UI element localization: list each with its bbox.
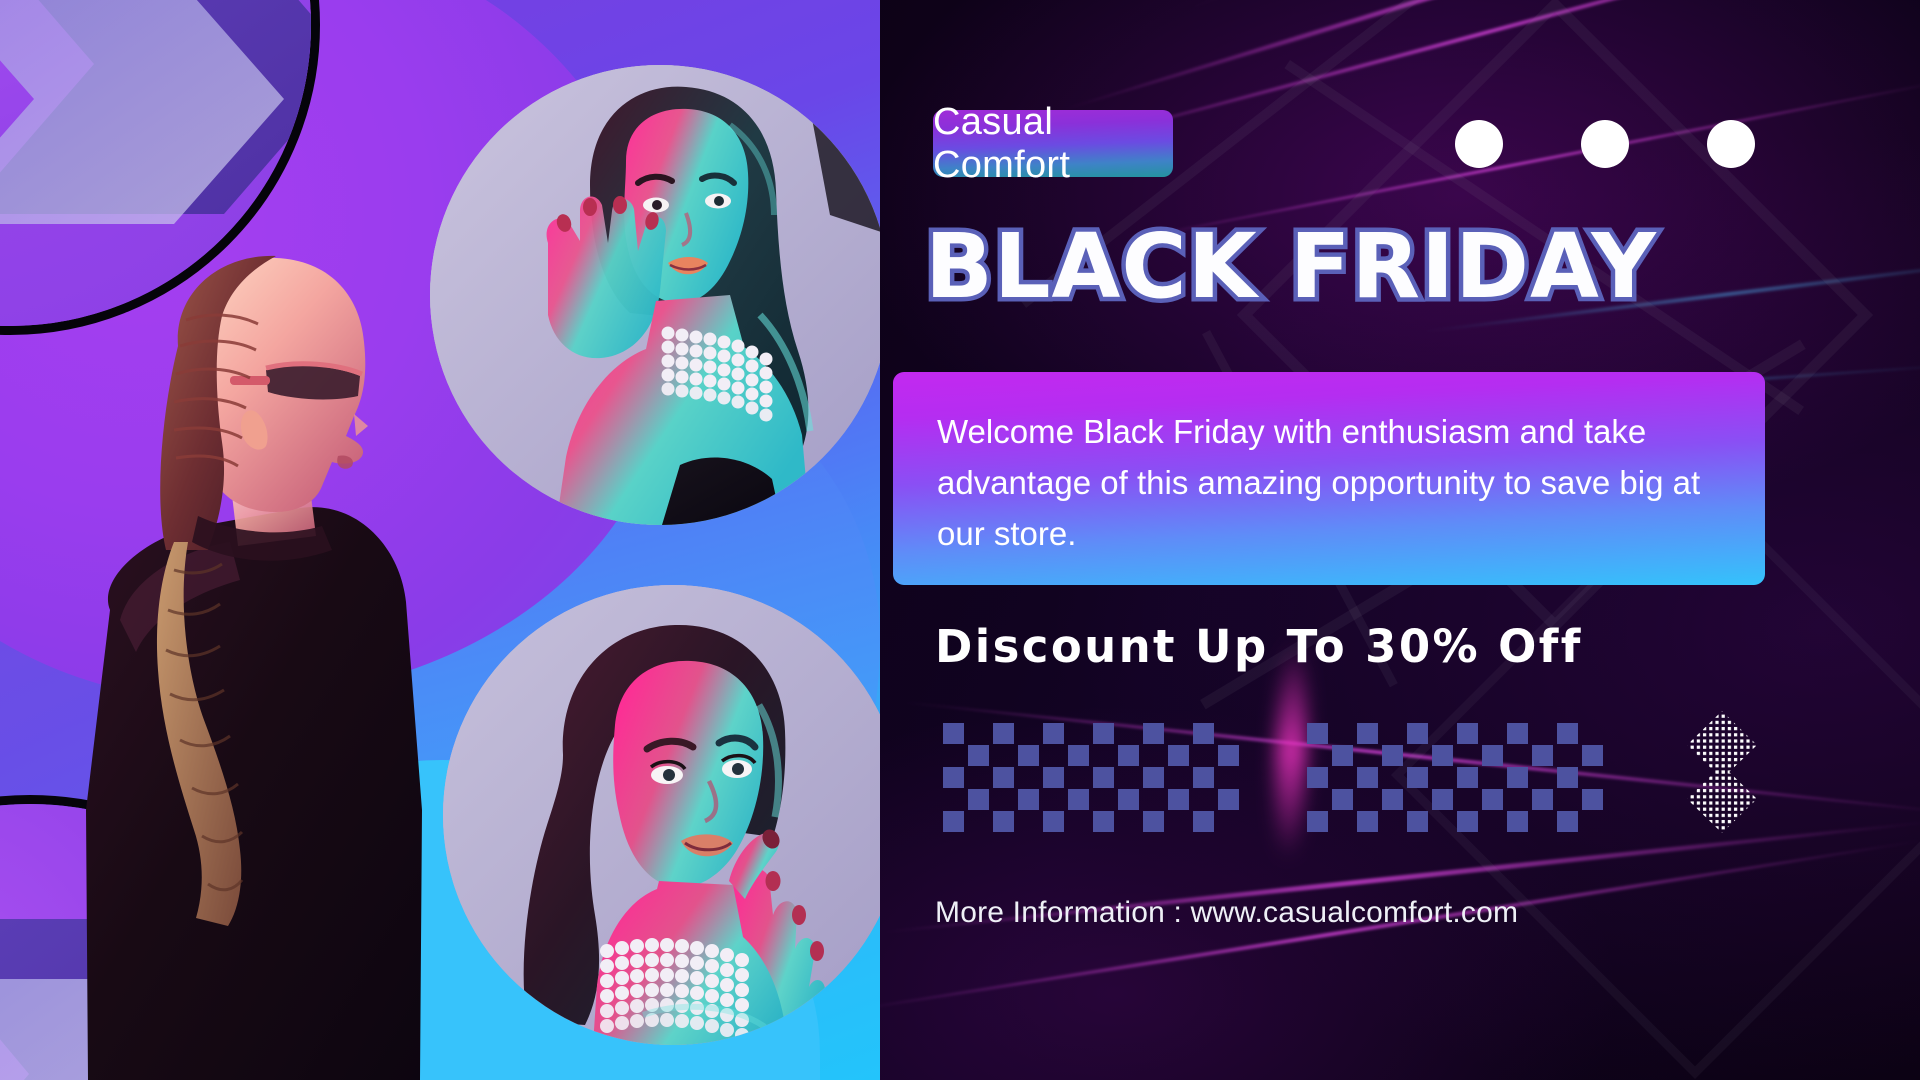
photo-circle-bottom bbox=[443, 585, 880, 1045]
left-figure-model bbox=[70, 250, 490, 1080]
brand-badge[interactable]: Casual Comfort bbox=[933, 110, 1173, 177]
diamond-dot-ornament bbox=[1683, 707, 1761, 837]
discount-headline: Discount Up To 30% Off bbox=[935, 620, 1583, 673]
checker-pattern-left bbox=[943, 723, 1243, 833]
description-text: Welcome Black Friday with enthusiasm and… bbox=[937, 406, 1727, 559]
checker-pattern-right bbox=[1307, 723, 1607, 833]
brand-badge-label: Casual Comfort bbox=[933, 101, 1173, 187]
decor-dot-1 bbox=[1455, 120, 1503, 168]
photo-circle-top bbox=[430, 65, 880, 525]
photo-circle-bottom-image bbox=[443, 585, 880, 1045]
decor-dot-2 bbox=[1581, 120, 1629, 168]
black-friday-poster: Casual Comfort BLACK FRIDAY Welcome Blac… bbox=[0, 0, 1920, 1080]
page-title: BLACK FRIDAY bbox=[925, 222, 1755, 311]
description-panel: Welcome Black Friday with enthusiasm and… bbox=[893, 372, 1765, 585]
photo-circle-top-image bbox=[430, 65, 880, 525]
left-collage-pane bbox=[0, 0, 880, 1080]
decor-dot-3 bbox=[1707, 120, 1755, 168]
more-information-text: More Information : www.casualcomfort.com bbox=[935, 896, 1518, 930]
